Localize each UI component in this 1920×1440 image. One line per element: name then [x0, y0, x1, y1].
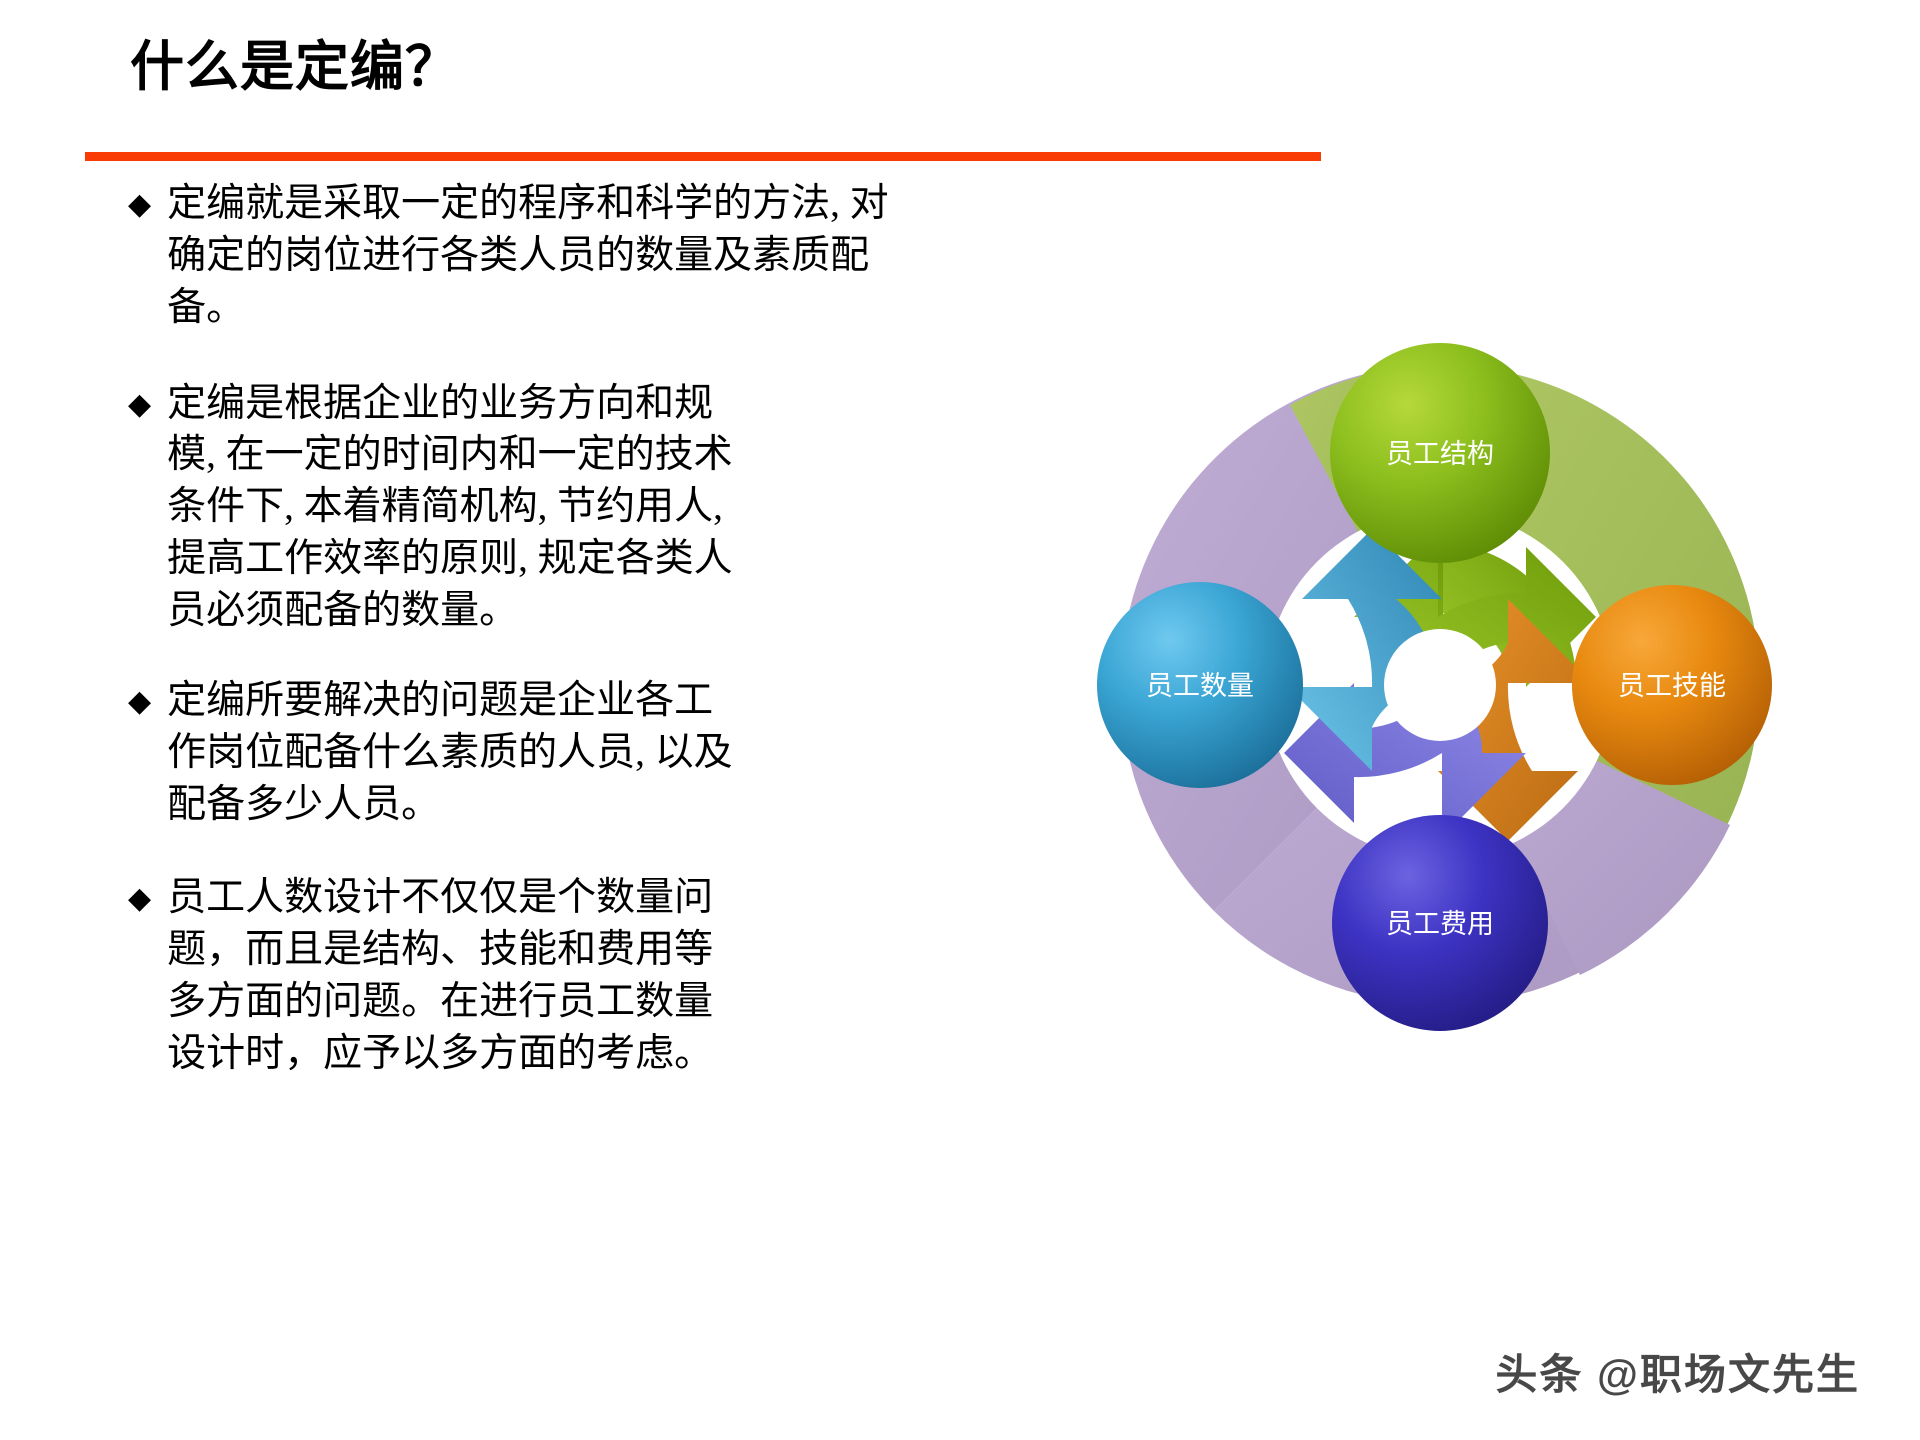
bullet-list: ◆ 定编就是采取一定的程序和科学的方法, 对确定的岗位进行各类人员的数量及素质配… — [128, 178, 918, 1114]
list-item-text: 定编就是采取一定的程序和科学的方法, 对确定的岗位进行各类人员的数量及素质配备。 — [167, 178, 918, 334]
list-item: ◆ 员工人数设计不仅仅是个数量问题，而且是结构、技能和费用等多方面的问题。在进行… — [128, 872, 918, 1079]
node-right[interactable]: 员工技能 — [1572, 585, 1772, 785]
node-top-label: 员工结构 — [1386, 439, 1494, 469]
list-item: ◆ 定编就是采取一定的程序和科学的方法, 对确定的岗位进行各类人员的数量及素质配… — [128, 178, 918, 334]
cycle-diagram: 员工结构 员工技能 员工费用 员工数量 — [1040, 285, 1840, 1085]
node-top[interactable]: 员工结构 — [1330, 343, 1550, 563]
list-item: ◆ 定编是根据企业的业务方向和规模, 在一定的时间内和一定的技术条件下, 本着精… — [128, 378, 918, 637]
title-divider — [85, 152, 1321, 161]
page-title: 什么是定编？ — [130, 38, 460, 97]
diamond-bullet-icon: ◆ — [128, 687, 151, 717]
list-item-text: 员工人数设计不仅仅是个数量问题，而且是结构、技能和费用等多方面的问题。在进行员工… — [167, 872, 737, 1079]
list-item-text: 定编是根据企业的业务方向和规模, 在一定的时间内和一定的技术条件下, 本着精简机… — [167, 378, 737, 637]
node-bottom[interactable]: 员工费用 — [1332, 815, 1548, 1031]
diamond-bullet-icon: ◆ — [128, 390, 151, 420]
diamond-bullet-icon: ◆ — [128, 190, 151, 220]
node-right-label: 员工技能 — [1618, 671, 1726, 701]
watermark-text: 头条 @职场文先生 — [1495, 1341, 1860, 1402]
center-hub — [1384, 629, 1496, 741]
list-item: ◆ 定编所要解决的问题是企业各工作岗位配备什么素质的人员, 以及配备多少人员。 — [128, 675, 918, 831]
node-left-label: 员工数量 — [1146, 671, 1254, 701]
node-bottom-label: 员工费用 — [1386, 909, 1494, 939]
node-left[interactable]: 员工数量 — [1097, 582, 1303, 788]
list-item-text: 定编所要解决的问题是企业各工作岗位配备什么素质的人员, 以及配备多少人员。 — [167, 675, 737, 831]
diamond-bullet-icon: ◆ — [128, 884, 151, 914]
